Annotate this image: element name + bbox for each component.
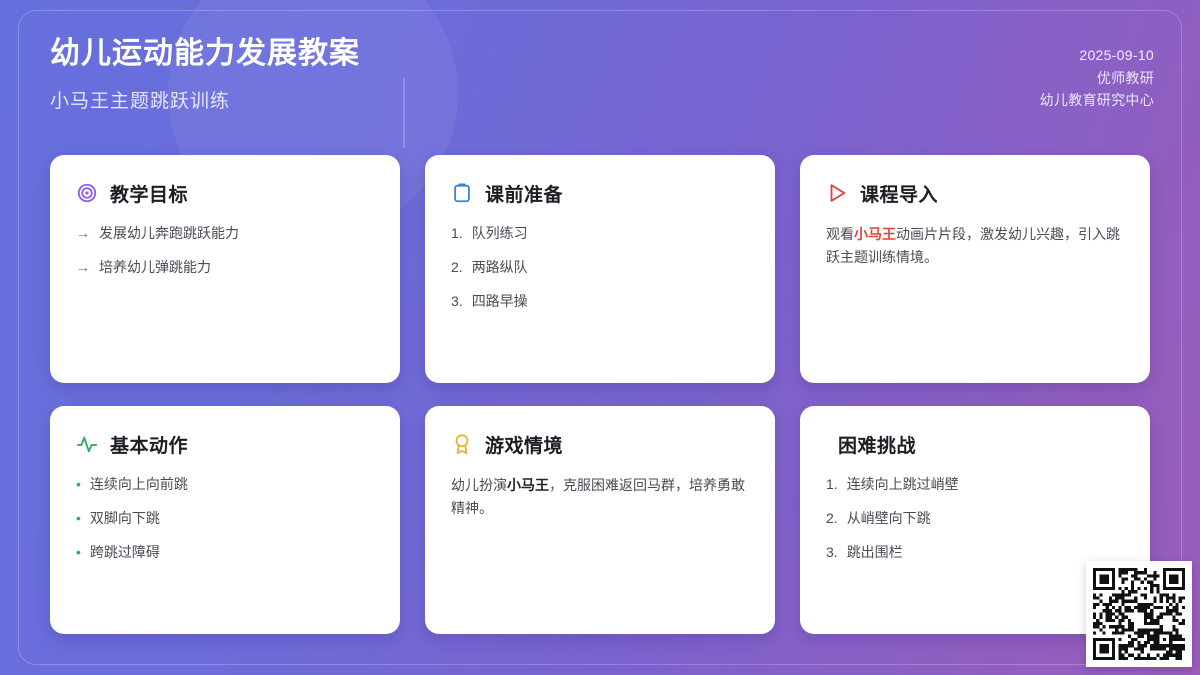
list-item-label: 双脚向下跳 — [90, 508, 160, 529]
paragraph-segment: 小马王 — [854, 226, 896, 242]
list-item: •跨跳过障碍 — [76, 542, 374, 563]
list-item: 1.队列练习 — [451, 223, 749, 244]
target-icon — [76, 182, 98, 204]
card-title: 课程导入 — [860, 180, 938, 207]
slide-header: 幼儿运动能力发展教案 小马王主题跳跃训练 2025-09-10 优师教研 幼儿教… — [50, 36, 1154, 136]
card-basic-movements: 基本动作•连续向上向前跳•双脚向下跳•跨跳过障碍 — [50, 406, 400, 634]
card-grid: 教学目标→发展幼儿奔跑跳跃能力→培养幼儿弹跳能力课前准备1.队列练习2.两路纵队… — [50, 155, 1150, 634]
card-header: 课前准备 — [451, 179, 749, 207]
activity-pulse-icon — [76, 433, 98, 455]
list-item-label: 队列练习 — [472, 223, 528, 244]
list-item: →发展幼儿奔跑跳跃能力 — [76, 223, 374, 244]
ordered-number: 3. — [826, 542, 838, 563]
slide-canvas: 幼儿运动能力发展教案 小马王主题跳跃训练 2025-09-10 优师教研 幼儿教… — [0, 0, 1200, 675]
list-item-label: 连续向上跳过峭壁 — [847, 474, 959, 495]
list-item-label: 跨跳过障碍 — [90, 542, 160, 563]
award-medal-icon — [451, 433, 473, 455]
list-item-label: 从峭壁向下跳 — [847, 508, 931, 529]
ordered-number: 1. — [451, 223, 463, 244]
list-item-label: 两路纵队 — [472, 257, 528, 278]
card-title: 课前准备 — [485, 180, 563, 207]
list-item: 2.从峭壁向下跳 — [826, 508, 1124, 529]
ordered-number: 3. — [451, 291, 463, 312]
qr-code-image — [1093, 568, 1185, 660]
list-item: 2.两路纵队 — [451, 257, 749, 278]
header-title-block: 幼儿运动能力发展教案 小马王主题跳跃训练 — [50, 36, 360, 113]
dot-bullet-icon: • — [76, 474, 81, 495]
header-org: 优师教研 — [1040, 67, 1154, 90]
card-list: →发展幼儿奔跑跳跃能力→培养幼儿弹跳能力 — [76, 223, 374, 278]
list-item-label: 培养幼儿弹跳能力 — [99, 257, 211, 278]
list-item-label: 四路早操 — [472, 291, 528, 312]
list-item: •双脚向下跳 — [76, 508, 374, 529]
list-item-label: 跳出围栏 — [847, 542, 903, 563]
clipboard-icon — [451, 182, 473, 204]
list-item: •连续向上向前跳 — [76, 474, 374, 495]
card-header: 困难挑战 — [826, 430, 1124, 458]
paragraph-segment: 观看 — [826, 226, 854, 242]
play-triangle-icon — [826, 182, 848, 204]
paragraph-segment: 幼儿扮演 — [451, 477, 507, 493]
header-dept: 幼儿教育研究中心 — [1040, 89, 1154, 112]
list-item-label: 连续向上向前跳 — [90, 474, 188, 495]
card-header: 教学目标 — [76, 179, 374, 207]
card-paragraph: 观看小马王动画片片段，激发幼儿兴趣，引入跳跃主题训练情境。 — [826, 223, 1124, 268]
card-title: 教学目标 — [110, 180, 188, 207]
card-list: 1.队列练习2.两路纵队3.四路早操 — [451, 223, 749, 312]
list-item: 3.跳出围栏 — [826, 542, 1124, 563]
card-header: 基本动作 — [76, 430, 374, 458]
arrow-bullet-icon: → — [76, 223, 90, 244]
paragraph-segment: 小马王 — [507, 477, 549, 493]
card-list: 1.连续向上跳过峭壁2.从峭壁向下跳3.跳出围栏 — [826, 474, 1124, 563]
ordered-number: 2. — [826, 508, 838, 529]
card-title: 基本动作 — [110, 431, 188, 458]
header-date: 2025-09-10 — [1040, 44, 1154, 67]
dot-bullet-icon: • — [76, 508, 81, 529]
arrow-bullet-icon: → — [76, 257, 90, 278]
card-pre-class-preparation: 课前准备1.队列练习2.两路纵队3.四路早操 — [425, 155, 775, 383]
card-paragraph: 幼儿扮演小马王，克服困难返回马群，培养勇敢精神。 — [451, 474, 749, 519]
list-item-label: 发展幼儿奔跑跳跃能力 — [99, 223, 239, 244]
card-header: 课程导入 — [826, 179, 1124, 207]
ordered-number: 1. — [826, 474, 838, 495]
card-title: 困难挑战 — [838, 431, 916, 458]
qr-code[interactable] — [1086, 561, 1192, 667]
page-title: 幼儿运动能力发展教案 — [50, 36, 360, 72]
dot-bullet-icon: • — [76, 542, 81, 563]
card-header: 游戏情境 — [451, 430, 749, 458]
list-item: →培养幼儿弹跳能力 — [76, 257, 374, 278]
card-list: •连续向上向前跳•双脚向下跳•跨跳过障碍 — [76, 474, 374, 563]
list-item: 3.四路早操 — [451, 291, 749, 312]
header-meta-block: 2025-09-10 优师教研 幼儿教育研究中心 — [1040, 44, 1154, 112]
card-game-scenario: 游戏情境幼儿扮演小马王，克服困难返回马群，培养勇敢精神。 — [425, 406, 775, 634]
ordered-number: 2. — [451, 257, 463, 278]
card-teaching-goals: 教学目标→发展幼儿奔跑跳跃能力→培养幼儿弹跳能力 — [50, 155, 400, 383]
list-item: 1.连续向上跳过峭壁 — [826, 474, 1124, 495]
page-subtitle: 小马王主题跳跃训练 — [50, 86, 360, 113]
card-title: 游戏情境 — [485, 431, 563, 458]
card-course-introduction: 课程导入观看小马王动画片片段，激发幼儿兴趣，引入跳跃主题训练情境。 — [800, 155, 1150, 383]
